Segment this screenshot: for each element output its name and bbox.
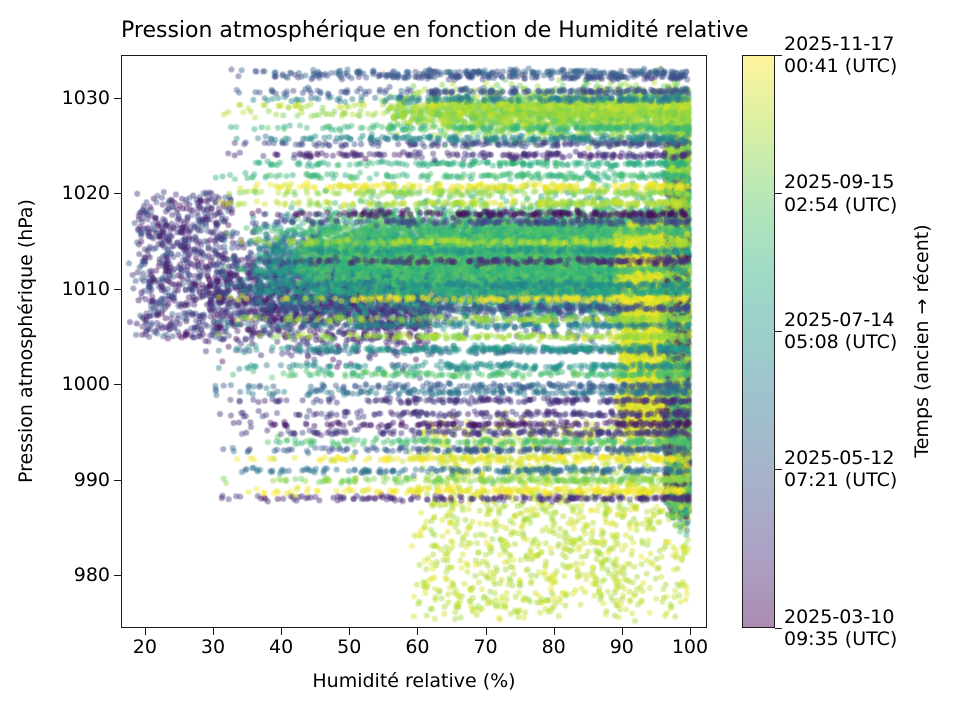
- y-tick-label: 1020: [62, 182, 110, 204]
- y-tick-label: 990: [74, 469, 110, 491]
- colorbar-tick-label: 2025-11-1700:41 (UTC): [784, 33, 897, 78]
- colorbar-tick-label: 2025-07-1405:08 (UTC): [784, 309, 897, 354]
- y-axis-label: Pression atmosphérique (hPa): [15, 199, 37, 483]
- colorbar-label: Temps (ancien → récent): [911, 224, 933, 457]
- y-tick-mark: [114, 575, 121, 576]
- figure-canvas: Pression atmosphérique en fonction de Hu…: [0, 0, 960, 720]
- colorbar-tick-time: 02:54 (UTC): [784, 194, 897, 216]
- x-tick-mark: [213, 628, 214, 635]
- x-tick-mark: [622, 628, 623, 635]
- x-tick-label: 100: [672, 636, 708, 658]
- colorbar-tick-time: 00:41 (UTC): [784, 55, 897, 77]
- colorbar-tick-time: 07:21 (UTC): [784, 469, 897, 491]
- x-tick-mark: [690, 628, 691, 635]
- x-tick-label: 30: [201, 636, 225, 658]
- y-tick-mark: [114, 289, 121, 290]
- y-tick-label: 1010: [62, 278, 110, 300]
- y-tick-mark: [114, 384, 121, 385]
- y-tick-label: 1000: [62, 373, 110, 395]
- x-tick-label: 70: [473, 636, 497, 658]
- y-tick-mark: [114, 193, 121, 194]
- colorbar-tick-time: 09:35 (UTC): [784, 628, 897, 650]
- colorbar-tick-label: 2025-09-1502:54 (UTC): [784, 171, 897, 216]
- x-tick-label: 40: [269, 636, 293, 658]
- colorbar-tick-date: 2025-11-17: [784, 33, 897, 55]
- colorbar-tick-mark: [775, 331, 782, 332]
- colorbar-tick-date: 2025-05-12: [784, 447, 897, 469]
- colorbar-tick-date: 2025-07-14: [784, 309, 897, 331]
- colorbar-tick-mark: [775, 55, 782, 56]
- colorbar-tick-mark: [775, 628, 782, 629]
- scatter-points-layer: [122, 56, 706, 627]
- y-tick-mark: [114, 480, 121, 481]
- y-tick-mark: [114, 98, 121, 99]
- colorbar-gradient: [743, 56, 774, 627]
- x-axis-label: Humidité relative (%): [121, 670, 707, 692]
- x-tick-mark: [554, 628, 555, 635]
- x-tick-label: 20: [133, 636, 157, 658]
- colorbar-tick-time: 05:08 (UTC): [784, 331, 897, 353]
- colorbar[interactable]: [742, 55, 775, 628]
- x-tick-label: 50: [337, 636, 361, 658]
- x-tick-mark: [417, 628, 418, 635]
- chart-title: Pression atmosphérique en fonction de Hu…: [121, 18, 707, 43]
- x-tick-label: 90: [610, 636, 634, 658]
- colorbar-tick-date: 2025-03-10: [784, 606, 897, 628]
- x-tick-mark: [145, 628, 146, 635]
- x-tick-label: 80: [542, 636, 566, 658]
- y-tick-label: 1030: [62, 87, 110, 109]
- y-tick-label: 980: [74, 564, 110, 586]
- colorbar-tick-mark: [775, 193, 782, 194]
- colorbar-tick-label: 2025-03-1009:35 (UTC): [784, 606, 897, 651]
- x-tick-label: 60: [405, 636, 429, 658]
- colorbar-tick-date: 2025-09-15: [784, 171, 897, 193]
- x-tick-mark: [486, 628, 487, 635]
- x-tick-mark: [349, 628, 350, 635]
- x-tick-mark: [281, 628, 282, 635]
- plot-area[interactable]: [121, 55, 707, 628]
- colorbar-tick-mark: [775, 469, 782, 470]
- colorbar-tick-label: 2025-05-1207:21 (UTC): [784, 447, 897, 492]
